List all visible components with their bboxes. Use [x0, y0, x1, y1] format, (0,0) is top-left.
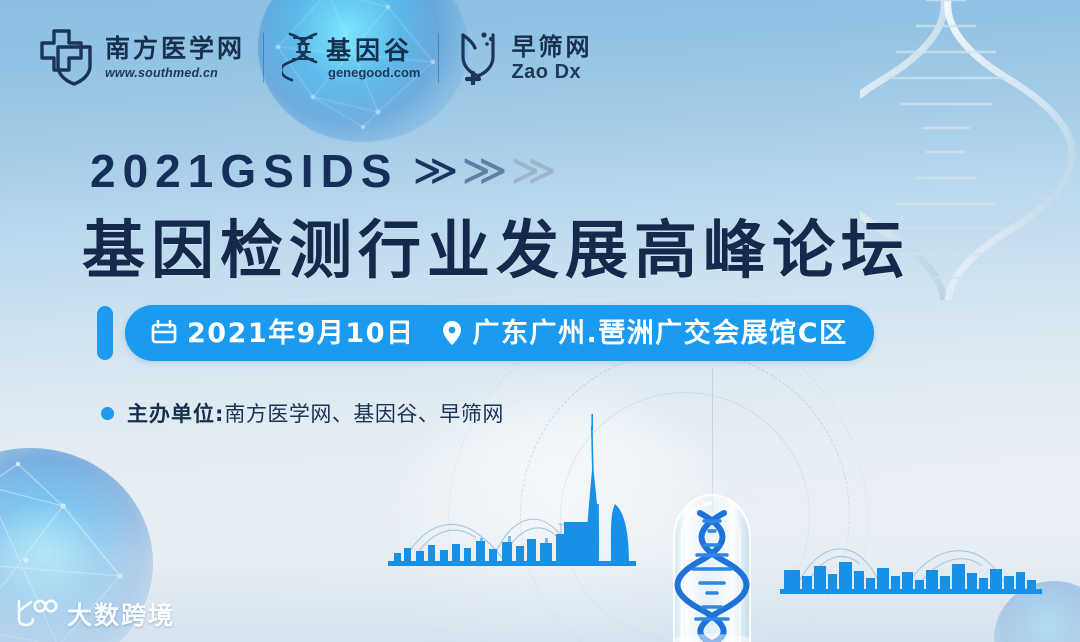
logo-zaodx[interactable]: 早筛网 Zao Dx — [457, 27, 592, 90]
logo-genegood-cn: 基因谷 — [326, 38, 420, 63]
logo-divider-2 — [438, 33, 439, 83]
watermark-text: 大数跨境 — [67, 596, 175, 632]
event-info-row: 2021年9月10日 广东广州.琶洲广交会展馆C区 — [97, 305, 874, 361]
organizer-value: 南方医学网、基因谷、早筛网 — [224, 398, 504, 428]
sponsor-logo-bar: 南方医学网 www.southmed.cn — [38, 25, 592, 91]
chevron-right-icon-3: ≫ — [511, 149, 564, 193]
logo-zaodx-cn: 早筛网 — [511, 35, 592, 59]
chevron-right-icon-2: ≫ — [462, 149, 515, 193]
event-info-pill: 2021年9月10日 广东广州.琶洲广交会展馆C区 — [125, 305, 874, 361]
accent-bar — [97, 306, 113, 360]
chevron-decoration: ≫ ≫ ≫ — [412, 149, 559, 193]
medical-cross-shield-icon — [38, 26, 96, 91]
logo-genegood-url: genegood.com — [328, 66, 420, 79]
organizer-row: 主办单位: 南方医学网、基因谷、早筛网 — [101, 398, 504, 428]
kuajing-logo-icon — [14, 597, 58, 632]
dna-helix-icon — [282, 28, 324, 89]
shield-plus-icon — [457, 27, 503, 90]
logo-southmed-url: www.southmed.cn — [105, 67, 245, 80]
bullet-dot-icon — [101, 407, 114, 420]
event-date: 2021年9月10日 — [187, 320, 415, 347]
event-title-english: 2021GSIDS ≫ ≫ ≫ — [90, 144, 560, 198]
dna-capsule-icon — [652, 477, 772, 642]
logo-southmed-cn: 南方医学网 — [105, 36, 245, 61]
watermark: 大数跨境 — [14, 596, 175, 632]
organizer-label: 主办单位: — [127, 398, 224, 428]
event-banner: 南方医学网 www.southmed.cn — [0, 0, 1080, 642]
calendar-icon — [149, 318, 179, 348]
city-skyline-silhouette — [780, 526, 1070, 606]
logo-southmed[interactable]: 南方医学网 www.southmed.cn — [38, 26, 245, 91]
event-title-chinese: 基因检测行业发展高峰论坛 — [82, 200, 910, 291]
logo-zaodx-en: Zao Dx — [511, 62, 592, 82]
event-title-english-text: 2021GSIDS — [90, 144, 398, 198]
logo-genegood[interactable]: 基因谷 genegood.com — [282, 28, 420, 89]
location-pin-icon — [439, 318, 465, 348]
guangzhou-skyline-silhouette — [378, 412, 678, 602]
chevron-right-icon-1: ≫ — [412, 149, 465, 193]
event-location: 广东广州.琶洲广交会展馆C区 — [473, 320, 848, 347]
logo-divider-1 — [263, 33, 264, 83]
